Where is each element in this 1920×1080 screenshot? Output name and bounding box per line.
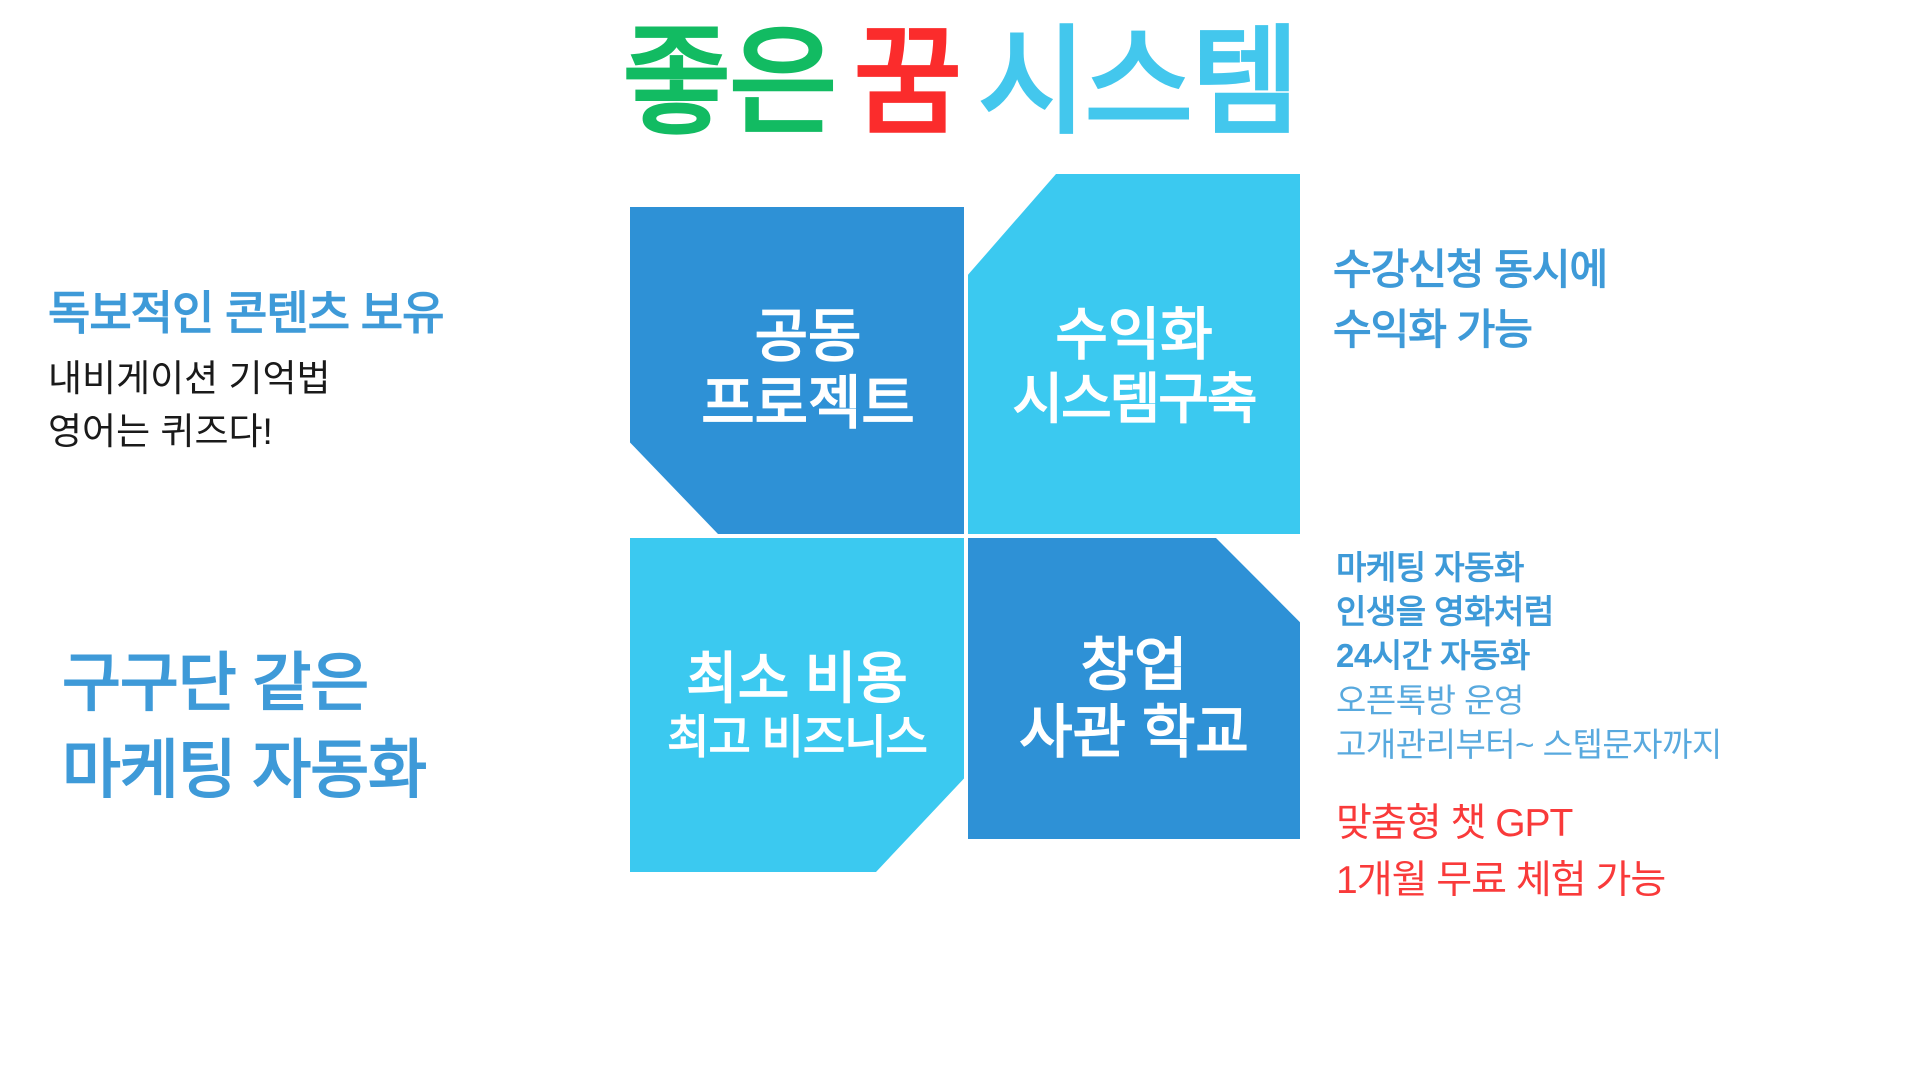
left-heading-unique-content: 독보적인 콘텐츠 보유	[48, 277, 443, 343]
quadrant-startup-academy-line-2: 사관 학교	[1019, 700, 1249, 766]
title-part-good: 좋은	[622, 14, 835, 153]
quadrant-joint-project-line-2: 프로젝트	[701, 371, 914, 437]
quadrant-diagram: 공동 프로젝트 수익화 시스템구축 최소 비용 최고 비즈니스 창업 사관 학교	[630, 207, 1300, 872]
right-highlight-block: 맞춤형 챗 GPT 1개월 무료 체험 가능	[1336, 796, 1665, 909]
title-part-dream: 꿈	[853, 14, 960, 153]
slide-canvas: 좋은꿈시스템 독보적인 콘텐츠 보유 내비게이션 기억법 영어는 퀴즈다! 구구…	[0, 0, 1920, 1080]
list-item: 인생을 영화처럼	[1336, 590, 1722, 634]
quadrant-minimum-cost-line-1: 최소 비용	[686, 647, 908, 711]
list-item: 고개관리부터~ 스텝문자까지	[1336, 723, 1722, 767]
left-big-line-2: 마케팅 자동화	[62, 727, 426, 814]
quadrant-minimum-cost-line-2: 최고 비즈니스	[667, 711, 927, 763]
quadrant-monetization-line-2: 시스템구축	[1012, 368, 1255, 431]
left-subtext-block: 내비게이션 기억법 영어는 퀴즈다!	[48, 352, 331, 459]
left-subtext-line-2: 영어는 퀴즈다!	[48, 405, 331, 458]
quadrant-startup-academy[interactable]: 창업 사관 학교	[968, 538, 1300, 839]
quadrant-joint-project[interactable]: 공동 프로젝트	[630, 207, 964, 534]
list-item: 마케팅 자동화	[1336, 546, 1722, 590]
list-item: 24시간 자동화	[1336, 634, 1722, 678]
quadrant-monetization-line-1: 수익화	[1055, 303, 1212, 368]
right-highlight-line-1: 맞춤형 챗 GPT	[1336, 796, 1665, 853]
quadrant-startup-academy-line-1: 창업	[1081, 633, 1188, 699]
quadrant-minimum-cost[interactable]: 최소 비용 최고 비즈니스	[630, 538, 964, 872]
page-title: 좋은꿈시스템	[0, 14, 1920, 153]
right-heading-line-2: 수익화 가능	[1333, 300, 1607, 360]
title-part-system: 시스템	[978, 14, 1298, 153]
left-subtext-line-1: 내비게이션 기억법	[48, 352, 331, 405]
right-feature-list: 마케팅 자동화 인생을 영화처럼 24시간 자동화 오픈톡방 운영 고개관리부터…	[1336, 546, 1722, 767]
right-heading-line-1: 수강신청 동시에	[1333, 240, 1607, 300]
right-highlight-line-2: 1개월 무료 체험 가능	[1336, 853, 1665, 910]
quadrant-monetization-system[interactable]: 수익화 시스템구축	[968, 174, 1300, 534]
left-big-text-block: 구구단 같은 마케팅 자동화	[62, 640, 426, 814]
left-big-line-1: 구구단 같은	[62, 640, 426, 727]
quadrant-joint-project-line-1: 공동	[755, 304, 862, 370]
list-item: 오픈톡방 운영	[1336, 679, 1722, 723]
right-heading-block: 수강신청 동시에 수익화 가능	[1333, 240, 1607, 359]
